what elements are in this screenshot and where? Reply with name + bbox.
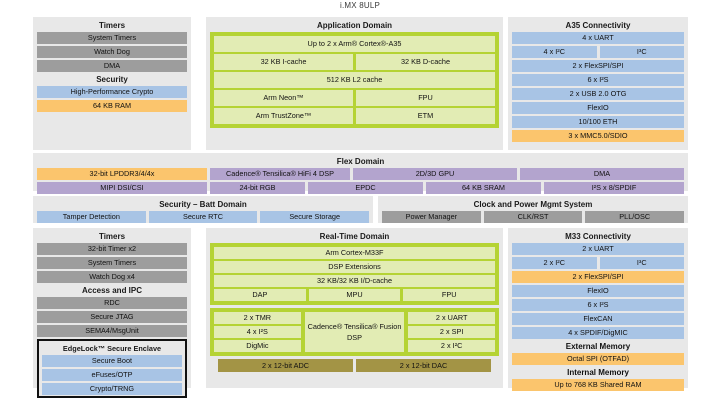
page-title: i.MX 8ULP [0,1,720,10]
panel-flex-domain: Flex Domain 32-bit LPDDR3/4/4x Cadence® … [33,153,688,191]
cell-d-cache[interactable]: 32 KB D-cache [356,54,495,70]
cell-epdc[interactable]: EPDC [308,182,423,194]
edgelock-secure-enclave: EdgeLock™ Secure Enclave Secure Boot eFu… [37,339,187,398]
cell-hifi4-dsp[interactable]: Cadence® Tensilica® HiFi 4 DSP [210,168,350,180]
cell-bottom-system-timers[interactable]: System Timers [37,257,187,269]
cell-12bit-adc[interactable]: 2 x 12-bit ADC [218,359,353,372]
clock-power-header: Clock and Power Mgmt System [382,199,684,211]
cell-fusion-dsp[interactable]: Cadence® Tensilica® Fusion DSP [305,312,405,352]
access-ipc-header: Access and IPC [37,285,187,297]
cell-rdc[interactable]: RDC [37,297,187,309]
cell-arm-neon[interactable]: Arm Neon™ [214,90,353,106]
cell-eth[interactable]: 10/100 ETH [512,116,684,128]
cell-2x-flexspi-spi[interactable]: 2 x FlexSPI/SPI [512,60,684,72]
external-memory-header: External Memory [512,341,684,353]
cell-12bit-dac[interactable]: 2 x 12-bit DAC [356,359,491,372]
cell-m33-2x-i2c[interactable]: 2 x I²C [512,257,597,269]
row-i2c-i3c: 4 x I²C I³C [512,46,684,58]
clock-power-row: Power Manager CLK/RST PLL/OSC [382,211,684,223]
panel-clock-power-mgmt: Clock and Power Mgmt System Power Manage… [378,196,688,223]
cell-watch-dog[interactable]: Watch Dog [37,46,187,58]
bottom-timers-header: Timers [37,231,187,243]
panel-security-batt-domain: Security – Batt Domain Tamper Detection … [33,196,373,223]
panel-a35-connectivity: A35 Connectivity 4 x UART 4 x I²C I³C 2 … [508,17,688,150]
cell-mpu[interactable]: MPU [309,289,401,301]
panel-m33-connectivity: M33 Connectivity 2 x UART 2 x I²C I³C 2 … [508,228,688,388]
rt-dsp-left-col: 2 x TMR 4 x I²S DigMic [214,312,301,352]
application-domain-header: Application Domain [210,20,499,32]
cell-secure-jtag[interactable]: Secure JTAG [37,311,187,323]
panel-real-time-domain: Real-Time Domain Arm Cortex-M33F DSP Ext… [206,228,503,388]
batt-domain-header: Security – Batt Domain [37,199,369,211]
cell-dap[interactable]: DAP [214,289,306,301]
cell-m33-spdif-digmic[interactable]: 4 x SPDIF/DigMIC [512,327,684,339]
cell-high-performance-crypto[interactable]: High-Performance Crypto [37,86,187,98]
cell-2x-uart[interactable]: 2 x UART [408,312,495,324]
cell-64kb-sram[interactable]: 64 KB SRAM [426,182,541,194]
cell-24bit-rgb[interactable]: 24-bit RGB [210,182,305,194]
cell-mmc-sdio[interactable]: 3 x MMC5.0/SDIO [512,130,684,142]
real-time-domain-header: Real-Time Domain [210,231,499,243]
cell-2x-i2c[interactable]: 2 x I²C [408,340,495,352]
panel-application-domain: Application Domain Up to 2 x Arm® Cortex… [206,17,503,150]
batt-domain-row: Tamper Detection Secure RTC Secure Stora… [37,211,369,223]
cell-crypto-trng[interactable]: Crypto/TRNG [42,383,182,395]
rt-core-block: Arm Cortex-M33F DSP Extensions 32 KB/32 … [210,243,499,305]
cell-shared-ram[interactable]: Up to 768 KB Shared RAM [512,379,684,391]
cell-etm[interactable]: ETM [356,108,495,124]
row-caches: 32 KB I-cache 32 KB D-cache [214,54,495,70]
cell-dsp-extensions[interactable]: DSP Extensions [214,261,495,273]
cell-arm-trustzone[interactable]: Arm TrustZone™ [214,108,353,124]
cell-id-cache[interactable]: 32 KB/32 KB I/D-cache [214,275,495,287]
cell-clk-rst[interactable]: CLK/RST [484,211,583,223]
cell-i2s-spdif[interactable]: I²S x 8/SPDIF [544,182,684,194]
internal-memory-header: Internal Memory [512,367,684,379]
cell-dma[interactable]: DMA [37,60,187,72]
cell-64kb-ram[interactable]: 64 KB RAM [37,100,187,112]
cell-6x-i2s[interactable]: 6 x I²S [512,74,684,86]
cell-system-timers[interactable]: System Timers [37,32,187,44]
row-neon-fpu: Arm Neon™ FPU [214,90,495,106]
cell-flex-dma[interactable]: DMA [520,168,684,180]
cell-cortex-a35[interactable]: Up to 2 x Arm® Cortex®-A35 [214,36,495,52]
cell-power-manager[interactable]: Power Manager [382,211,481,223]
cell-secure-boot[interactable]: Secure Boot [42,355,182,367]
application-domain-core: Up to 2 x Arm® Cortex®-A35 32 KB I-cache… [210,32,499,128]
cell-sema4-msgunit[interactable]: SEMA4/MsgUnit [37,325,187,337]
flex-domain-header: Flex Domain [37,156,684,168]
row-adc-dac: 2 x 12-bit ADC 2 x 12-bit DAC [210,359,499,372]
cell-pll-osc[interactable]: PLL/OSC [585,211,684,223]
cell-rt-fpu[interactable]: FPU [403,289,495,301]
cell-m33-6x-i2s[interactable]: 6 x I²S [512,299,684,311]
cell-tamper-detection[interactable]: Tamper Detection [37,211,146,223]
cell-2x-tmr[interactable]: 2 x TMR [214,312,301,324]
cell-m33-2x-uart[interactable]: 2 x UART [512,243,684,255]
row-m33-i2c-i3c: 2 x I²C I³C [512,257,684,269]
panel-top-left-timers-security: Timers System Timers Watch Dog DMA Secur… [33,17,191,150]
cell-4x-uart[interactable]: 4 x UART [512,32,684,44]
flex-domain-row-2: MIPI DSI/CSI 24-bit RGB EPDC 64 KB SRAM … [37,182,684,194]
cell-2x-usb-otg[interactable]: 2 x USB 2.0 OTG [512,88,684,100]
cell-efuses-otp[interactable]: eFuses/OTP [42,369,182,381]
cell-m33-flexio[interactable]: FlexIO [512,285,684,297]
cell-mipi-dsi-csi[interactable]: MIPI DSI/CSI [37,182,207,194]
rt-dsp-columns: 2 x TMR 4 x I²S DigMic Cadence® Tensilic… [214,312,495,352]
row-trustzone-etm: Arm TrustZone™ ETM [214,108,495,124]
cell-watch-dog-x4[interactable]: Watch Dog x4 [37,271,187,283]
cell-l2-cache[interactable]: 512 KB L2 cache [214,72,495,88]
rt-dsp-right-col: 2 x UART 2 x SPI 2 x I²C [408,312,495,352]
panel-bottom-left: Timers 32-bit Timer x2 System Timers Wat… [33,228,191,388]
m33-connectivity-header: M33 Connectivity [512,231,684,243]
cell-lpddr[interactable]: 32-bit LPDDR3/4/4x [37,168,207,180]
flex-domain-row-1: 32-bit LPDDR3/4/4x Cadence® Tensilica® H… [37,168,684,180]
cell-digmic[interactable]: DigMic [214,340,301,352]
cell-m33-flexspi[interactable]: 2 x FlexSPI/SPI [512,271,684,283]
edgelock-header: EdgeLock™ Secure Enclave [42,343,182,355]
diagram-root: i.MX 8ULP Timers System Timers Watch Dog… [0,0,720,405]
security-header: Security [37,74,187,86]
cell-gpu[interactable]: 2D/3D GPU [353,168,517,180]
cell-4x-i2c[interactable]: 4 x I²C [512,46,597,58]
cell-i-cache[interactable]: 32 KB I-cache [214,54,353,70]
rt-dsp-block: 2 x TMR 4 x I²S DigMic Cadence® Tensilic… [210,308,499,356]
cell-4x-i2s[interactable]: 4 x I²S [214,326,301,338]
timers-header: Timers [37,20,187,32]
cell-m33-i3c[interactable]: I³C [600,257,685,269]
cell-secure-rtc[interactable]: Secure RTC [149,211,258,223]
cell-2x-spi[interactable]: 2 x SPI [408,326,495,338]
cell-i3c[interactable]: I³C [600,46,685,58]
cell-32bit-timer-x2[interactable]: 32-bit Timer x2 [37,243,187,255]
cell-cortex-m33f[interactable]: Arm Cortex-M33F [214,247,495,259]
cell-flexio[interactable]: FlexIO [512,102,684,114]
a35-connectivity-header: A35 Connectivity [512,20,684,32]
cell-fpu[interactable]: FPU [356,90,495,106]
row-dap-mpu-fpu: DAP MPU FPU [214,289,495,301]
cell-octal-spi[interactable]: Octal SPI (OTFAD) [512,353,684,365]
cell-m33-flexcan[interactable]: FlexCAN [512,313,684,325]
cell-secure-storage[interactable]: Secure Storage [260,211,369,223]
